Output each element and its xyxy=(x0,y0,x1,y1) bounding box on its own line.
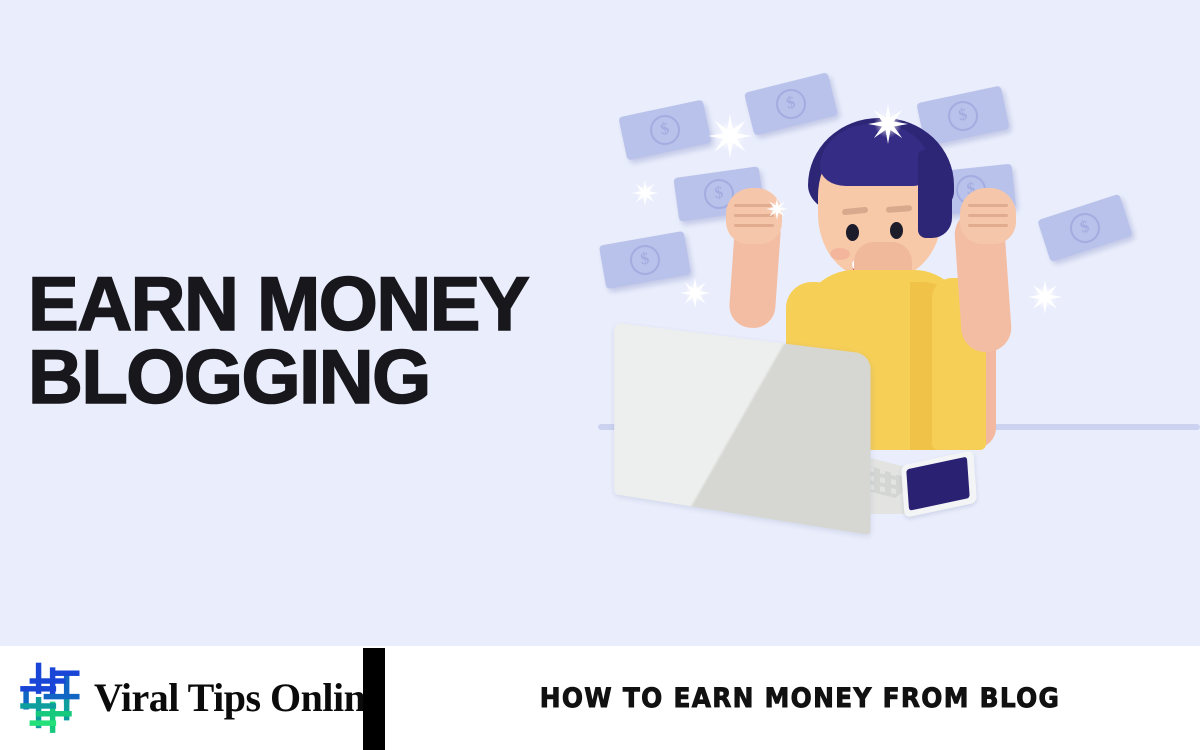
brand-name: Viral Tips Online xyxy=(94,674,383,721)
headline-line-2: BLOGGING xyxy=(28,342,588,415)
brand-lockup[interactable]: Viral Tips Online xyxy=(14,660,383,734)
knuckle-line xyxy=(968,204,1008,207)
knuckle-line xyxy=(968,214,1008,217)
knuckle-line xyxy=(734,224,774,227)
page-title: EARN MONEY BLOGGING xyxy=(28,269,588,415)
knuckle-line xyxy=(734,204,774,207)
fist-right xyxy=(960,188,1016,244)
knuckle-line xyxy=(968,224,1008,227)
smartphone-screen xyxy=(906,457,970,511)
caption-text: HOW TO EARN MONEY FROM BLOG xyxy=(450,646,1149,750)
woven-grid-logo-icon xyxy=(14,658,92,736)
hero-panel: EARN MONEY BLOGGING $$$$$$$ xyxy=(0,0,1200,646)
eye-right xyxy=(890,222,903,239)
eye-left xyxy=(846,224,859,241)
headline-line-1: EARN MONEY xyxy=(28,269,588,342)
illustration: $$$$$$$ xyxy=(580,20,1200,640)
fist-left xyxy=(726,188,782,244)
cheek-blush xyxy=(830,248,850,260)
poster-canvas: EARN MONEY BLOGGING $$$$$$$ xyxy=(0,0,1200,750)
divider-bar xyxy=(363,648,385,750)
knuckle-line xyxy=(734,214,774,217)
footer-bar: Viral Tips Online HOW TO EARN MONEY FROM… xyxy=(0,646,1200,750)
hair-sideburn xyxy=(918,150,952,238)
